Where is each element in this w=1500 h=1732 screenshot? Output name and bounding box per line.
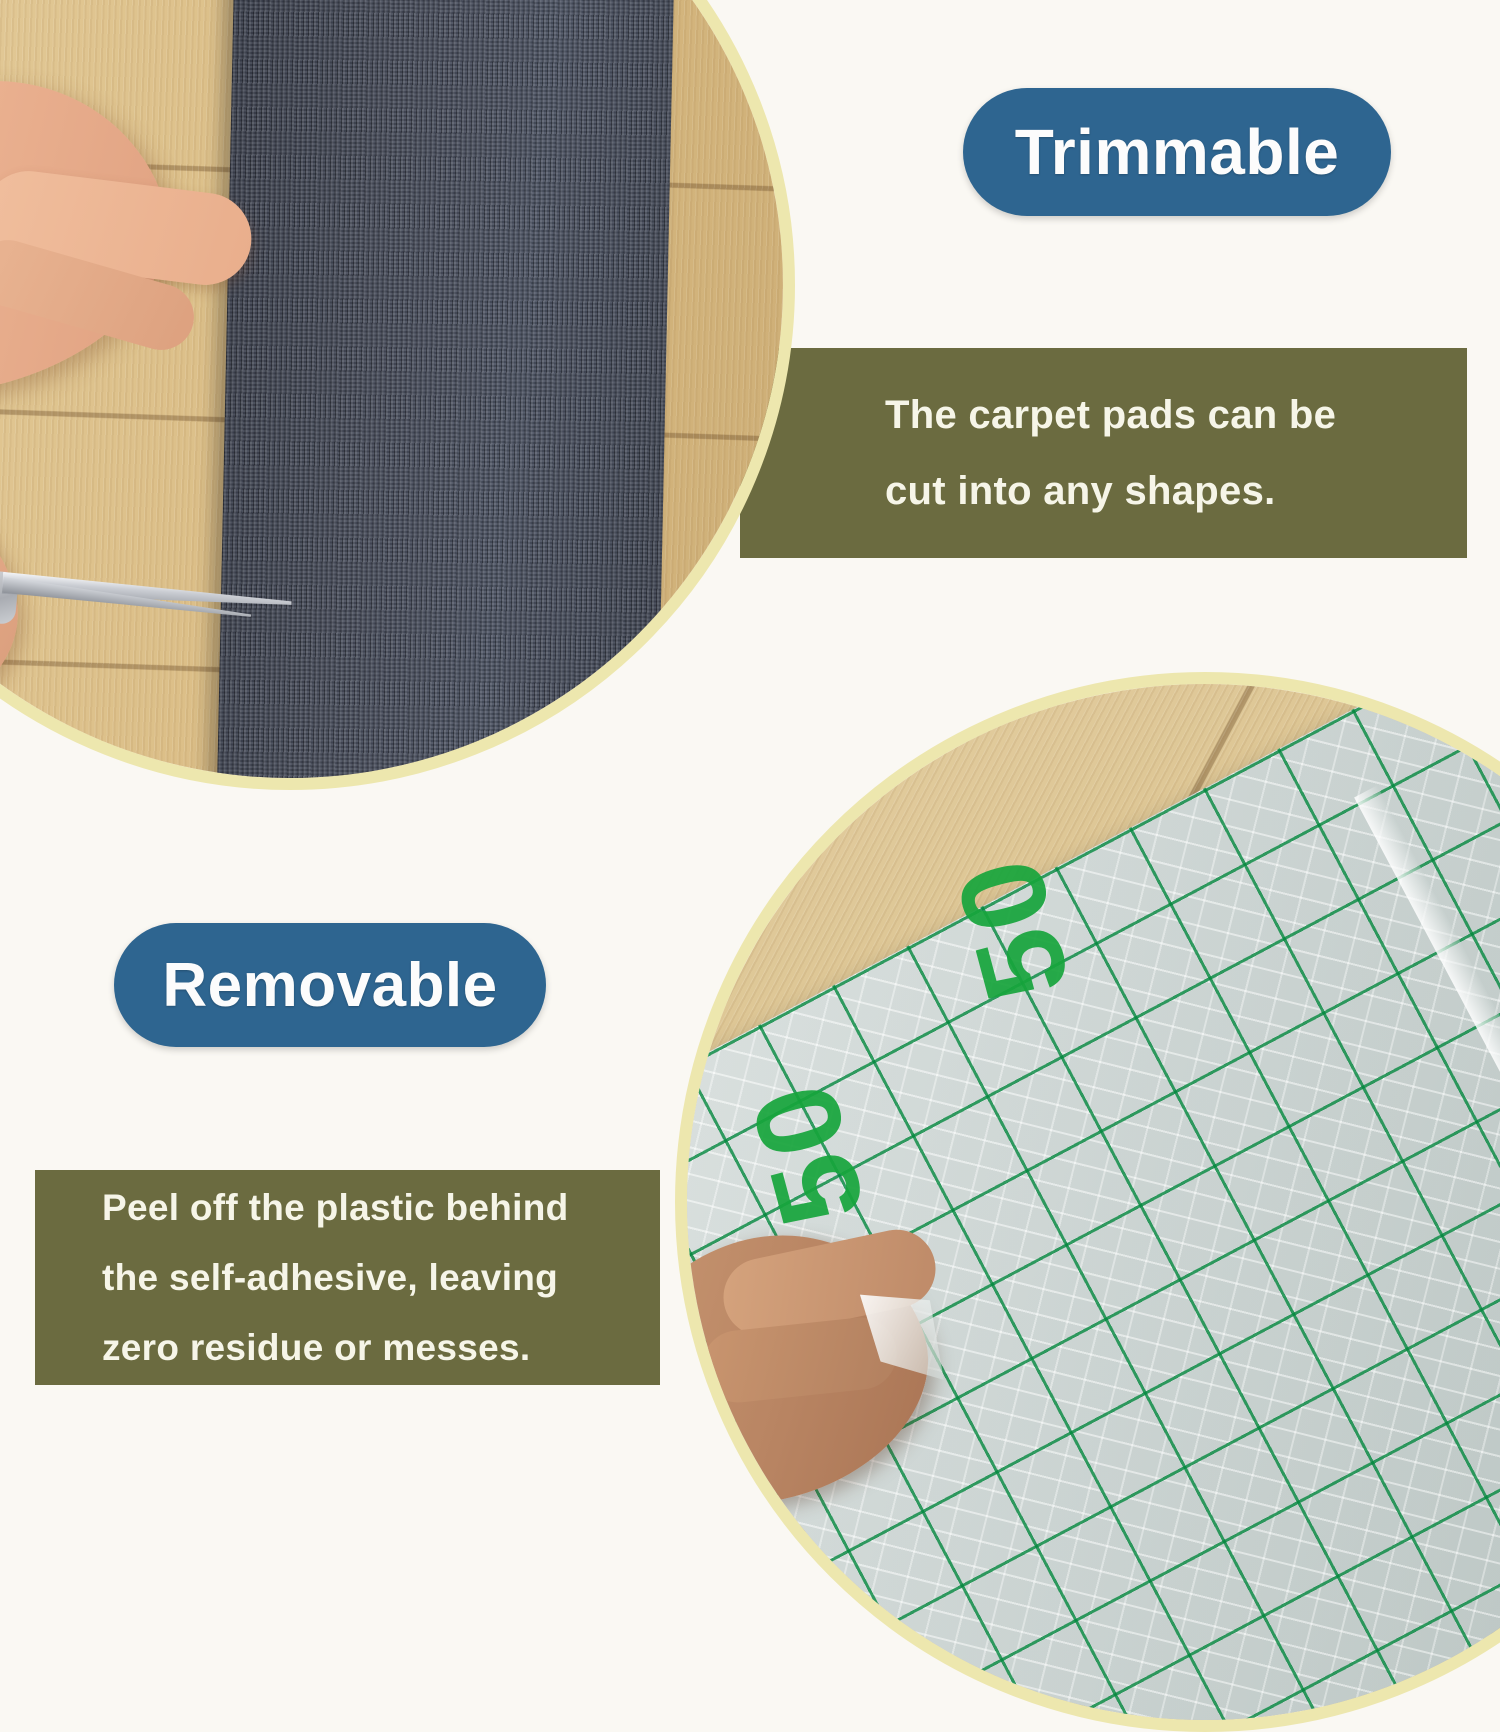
trimming-carpet-photo bbox=[0, 0, 795, 790]
photo-inner: 50 50 bbox=[687, 684, 1500, 1720]
peeling-backing-photo: 50 50 bbox=[675, 672, 1500, 1732]
caption-line: zero residue or messes. bbox=[102, 1313, 660, 1383]
feature-badge-trimmable: Trimmable bbox=[963, 88, 1391, 216]
caption-line: cut into any shapes. bbox=[885, 453, 1467, 529]
infographic-canvas: The carpet pads can be cut into any shap… bbox=[0, 0, 1500, 1500]
caption-line: The carpet pads can be bbox=[885, 377, 1467, 453]
caption-line: Peel off the plastic behind bbox=[102, 1173, 660, 1243]
photo-inner bbox=[0, 0, 783, 778]
caption-panel-removable: Peel off the plastic behind the self-adh… bbox=[35, 1170, 660, 1385]
badge-label: Removable bbox=[162, 950, 497, 1021]
caption-panel-trimmable: The carpet pads can be cut into any shap… bbox=[740, 348, 1467, 558]
badge-label: Trimmable bbox=[1015, 115, 1340, 189]
caption-line: the self-adhesive, leaving bbox=[102, 1243, 660, 1313]
carpet-pad bbox=[215, 0, 678, 778]
feature-badge-removable: Removable bbox=[114, 923, 546, 1047]
